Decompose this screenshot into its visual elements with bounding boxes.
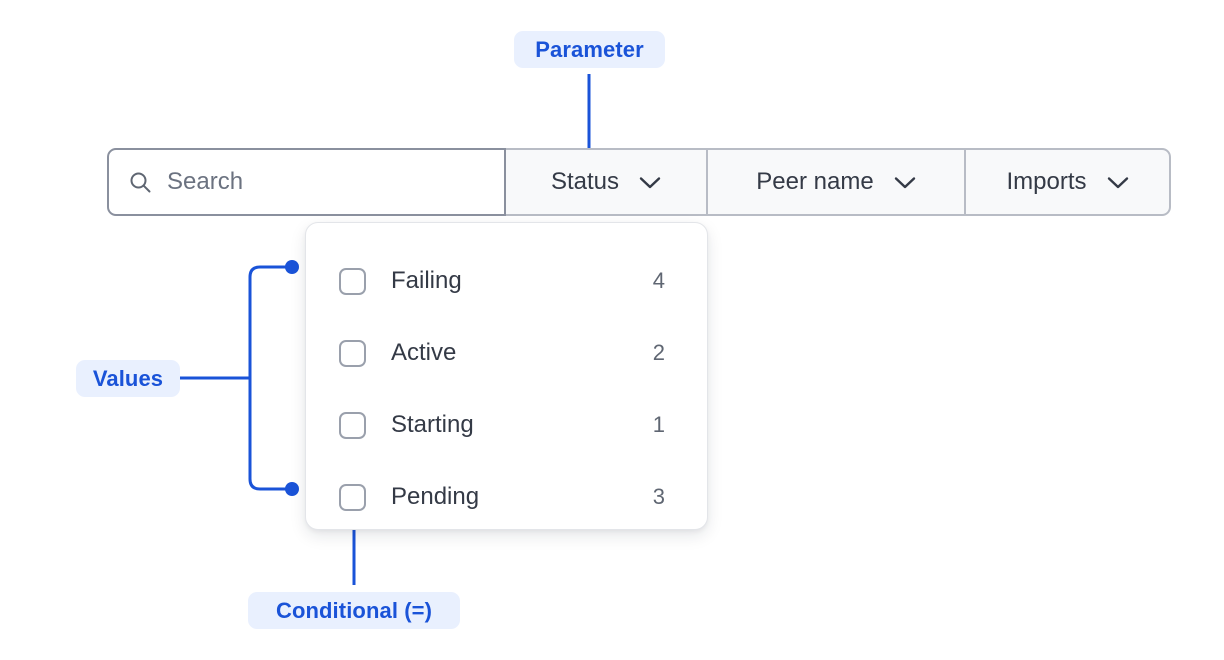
status-filter-dropdown: Failing 4 Active 2 Starting 1 Pending 3 <box>305 222 708 530</box>
annotation-label-parameter: Parameter <box>514 31 665 68</box>
dropdown-option-count: 4 <box>649 268 665 294</box>
dropdown-option-label: Active <box>391 339 649 367</box>
values-connector-top-dot <box>285 260 299 274</box>
search-field[interactable] <box>107 148 506 216</box>
filter-label-status: Status <box>551 168 619 196</box>
chevron-down-icon <box>639 176 661 189</box>
dropdown-option-failing[interactable]: Failing 4 <box>306 245 707 317</box>
search-icon <box>129 171 151 193</box>
dropdown-option-label: Pending <box>391 483 649 511</box>
checkbox-starting[interactable] <box>339 412 366 439</box>
dropdown-option-label: Starting <box>391 411 649 439</box>
dropdown-option-starting[interactable]: Starting 1 <box>306 389 707 461</box>
filter-label-peer-name: Peer name <box>756 168 873 196</box>
annotation-label-values: Values <box>76 360 180 397</box>
dropdown-option-count: 1 <box>649 412 665 438</box>
values-connector-bottom-arm <box>250 479 286 489</box>
search-input[interactable] <box>167 168 467 196</box>
filter-button-imports[interactable]: Imports <box>965 148 1171 216</box>
checkbox-failing[interactable] <box>339 268 366 295</box>
chevron-down-icon <box>1107 176 1129 189</box>
values-connector-top-arm <box>250 267 286 277</box>
checkbox-active[interactable] <box>339 340 366 367</box>
annotation-label-conditional: Conditional (=) <box>248 592 460 629</box>
chevron-down-icon <box>894 176 916 189</box>
filter-button-status[interactable]: Status <box>505 148 708 216</box>
dropdown-option-pending[interactable]: Pending 3 <box>306 461 707 533</box>
checkbox-pending[interactable] <box>339 484 366 511</box>
values-connector-bottom-dot <box>285 482 299 496</box>
dropdown-option-count: 2 <box>649 340 665 366</box>
dropdown-option-count: 3 <box>649 484 665 510</box>
filter-button-peer-name[interactable]: Peer name <box>707 148 966 216</box>
dropdown-option-label: Failing <box>391 267 649 295</box>
dropdown-option-active[interactable]: Active 2 <box>306 317 707 389</box>
filter-toolbar: Status Peer name Imports <box>107 148 1171 216</box>
filter-label-imports: Imports <box>1006 168 1086 196</box>
